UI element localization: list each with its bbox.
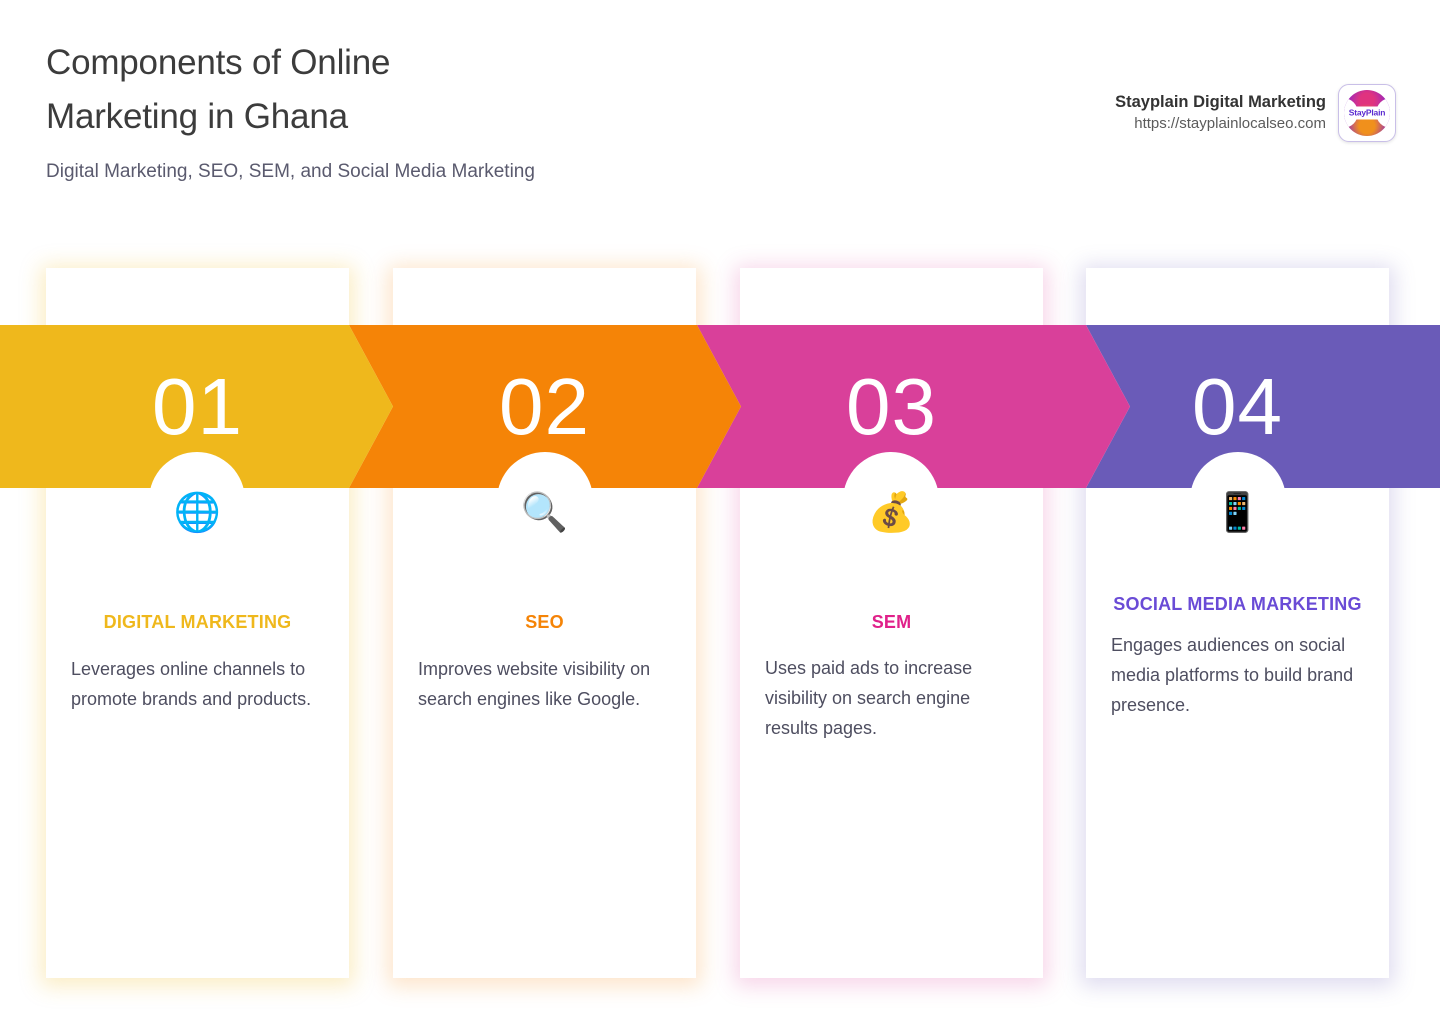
step-heading-3: SEM bbox=[765, 607, 1018, 637]
step-heading-4: SOCIAL MEDIA MARKETING bbox=[1111, 589, 1364, 619]
step-heading-1: DIGITAL MARKETING bbox=[71, 607, 324, 637]
step-content-3: 💰 SEM Uses paid ads to increase visibili… bbox=[740, 490, 1043, 743]
logo-wordmark: StayPlain bbox=[1345, 107, 1389, 120]
mobile-phone-icon: 📱 bbox=[1111, 490, 1364, 536]
money-bag-icon: 💰 bbox=[765, 490, 1018, 536]
step-body-4: Engages audiences on social media platfo… bbox=[1111, 630, 1364, 720]
step-heading-2: SEO bbox=[418, 607, 671, 637]
step-content-4: 📱 SOCIAL MEDIA MARKETING Engages audienc… bbox=[1086, 490, 1389, 720]
infographic-page: Components of Online Marketing in Ghana … bbox=[0, 0, 1440, 1024]
step-body-3: Uses paid ads to increase visibility on … bbox=[765, 653, 1018, 743]
step-content-2: 🔍 SEO Improves website visibility on sea… bbox=[393, 490, 696, 714]
globe-icon: 🌐 bbox=[71, 490, 324, 536]
step-content-1: 🌐 DIGITAL MARKETING Leverages online cha… bbox=[46, 490, 349, 714]
step-body-2: Improves website visibility on search en… bbox=[418, 654, 671, 714]
step-body-1: Leverages online channels to promote bra… bbox=[71, 654, 324, 714]
magnifying-glass-icon: 🔍 bbox=[418, 490, 671, 536]
